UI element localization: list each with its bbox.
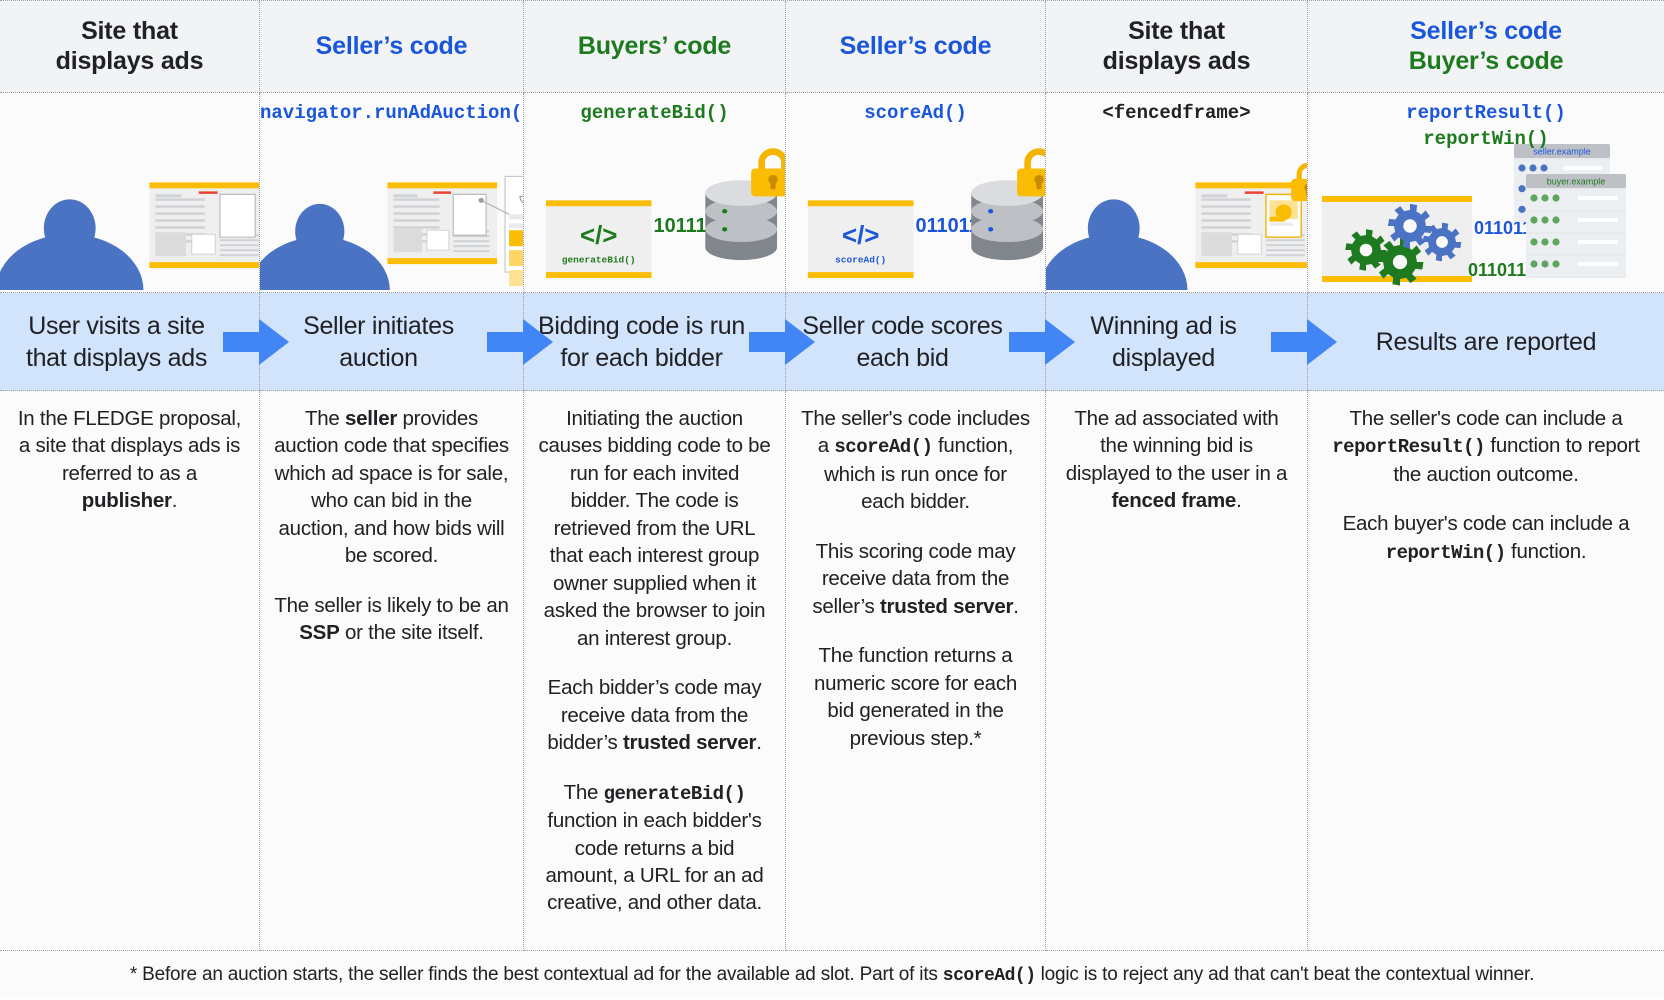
emphasis-term: trusted server: [623, 731, 756, 754]
svg-text:generateBid(): generateBid(): [562, 255, 636, 266]
description-paragraph: The generateBid() function in each bidde…: [538, 779, 771, 917]
scoread-laptop-database-lock-illustration: </>scoreAd()0110111: [786, 142, 1045, 292]
text-run: The seller is likely to be an: [274, 594, 508, 617]
column-header-4: Seller’s code: [786, 1, 1046, 93]
svg-text:</>: </>: [580, 222, 617, 250]
person-viewing-site-illustration: [0, 142, 259, 292]
description-paragraph: Initiating the auction causes bidding co…: [538, 405, 771, 652]
text-run: or the site itself.: [340, 621, 484, 644]
column-header-1: Site thatdisplays ads: [0, 1, 260, 93]
description-cell-3: Initiating the auction causes bidding co…: [524, 391, 786, 951]
column-header-line: Seller’s code: [1410, 17, 1562, 47]
api-label-line-1: scoreAd(): [786, 101, 1045, 127]
column-header-line: Seller’s code: [840, 32, 992, 62]
step-label: Seller initiates auction: [268, 310, 489, 374]
fledge-auction-flow-diagram: Site thatdisplays adsSeller’s codeBuyers…: [0, 0, 1664, 1000]
header-row: Site thatdisplays adsSeller’s codeBuyers…: [0, 0, 1664, 93]
description-paragraph: The seller is likely to be an SSP or the…: [274, 592, 509, 647]
description-paragraph: The seller's code can include a reportRe…: [1322, 405, 1650, 488]
text-run: The function returns a numeric score for…: [814, 644, 1017, 749]
column-header-line: displays ads: [1103, 47, 1251, 77]
inline-code: reportResult(): [1332, 436, 1485, 458]
flow-arrow-icon: [749, 319, 815, 365]
api-label: navigator.runAdAuction(): [260, 101, 523, 127]
text-run: Each buyer's code can include a: [1343, 512, 1630, 535]
text-run: * Before an auction starts, the seller f…: [130, 964, 943, 985]
emphasis-term: trusted server: [880, 595, 1013, 618]
column-header-6: Seller’s codeBuyer’s code: [1308, 1, 1664, 93]
api-label-line-1: generateBid(): [524, 101, 785, 127]
description-paragraph: In the FLEDGE proposal, a site that disp…: [14, 405, 245, 515]
inline-code: scoreAd(): [834, 436, 932, 458]
api-label: reportResult()reportWin(): [1308, 101, 1664, 152]
step-label: Bidding code is run for each bidder: [532, 310, 751, 374]
description-cell-4: The seller's code includes a scoreAd() f…: [786, 391, 1046, 951]
column-header-3: Buyers’ code: [524, 1, 786, 93]
footnote-text: * Before an auction starts, the seller f…: [130, 964, 1534, 986]
column-header-2: Seller’s code: [260, 1, 524, 93]
step-cell-5: Winning ad is displayed: [1046, 293, 1308, 391]
text-run: logic is to reject any ad that can't bea…: [1036, 964, 1535, 985]
text-run: The ad associated with the winning bid i…: [1066, 407, 1287, 485]
emphasis-term: seller: [345, 407, 397, 430]
column-header-line: Buyer’s code: [1409, 47, 1564, 77]
emphasis-term: SSP: [299, 621, 339, 644]
description-cell-5: The ad associated with the winning bid i…: [1046, 391, 1308, 951]
text-run: .: [1236, 489, 1241, 512]
flow-arrow-icon: [223, 319, 289, 365]
step-band-row: User visits a site that displays adsSell…: [0, 293, 1664, 391]
column-header-line: Buyers’ code: [578, 32, 731, 62]
description-cell-1: In the FLEDGE proposal, a site that disp…: [0, 391, 260, 951]
description-paragraph: The seller provides auction code that sp…: [274, 405, 509, 570]
step-label: Seller code scores each bid: [794, 310, 1011, 374]
flow-arrow-icon: [487, 319, 553, 365]
emphasis-term: publisher: [82, 489, 172, 512]
description-paragraph: Each bidder’s code may receive data from…: [538, 674, 771, 756]
step-cell-6: Results are reported: [1308, 293, 1664, 391]
inline-code: generateBid(): [604, 783, 746, 805]
step-cell-3: Bidding code is run for each bidder: [524, 293, 786, 391]
description-paragraph: This scoring code may receive data from …: [800, 538, 1031, 620]
text-run: The: [564, 781, 604, 804]
svg-text:buyer.example: buyer.example: [1547, 177, 1606, 187]
step-label: Results are reported: [1376, 326, 1597, 358]
api-label: <fencedframe>: [1046, 101, 1307, 127]
column-header-line: Seller’s code: [316, 32, 468, 62]
step-label: User visits a site that displays ads: [8, 310, 225, 374]
description-row: In the FLEDGE proposal, a site that disp…: [0, 391, 1664, 951]
step-label: Winning ad is displayed: [1054, 310, 1273, 374]
illustration-cell-6: reportResult()reportWin()011011101101111…: [1308, 93, 1664, 293]
person-viewing-fenced-frame-ad-illustration: [1046, 142, 1307, 292]
generatebid-laptop-database-lock-illustration: </>generateBid()1011110: [524, 142, 785, 292]
api-label: generateBid(): [524, 101, 785, 127]
column-header-line: Site that: [1128, 17, 1225, 47]
illustration-cell-2: navigator.runAdAuction(): [260, 93, 524, 293]
api-label: scoreAd(): [786, 101, 1045, 127]
api-label-line-1: navigator.runAdAuction(): [260, 101, 523, 127]
svg-text:scoreAd(): scoreAd(): [835, 255, 886, 266]
person-viewing-site-with-auction-panel-illustration: [260, 142, 523, 292]
api-label-line-2: reportWin(): [1308, 127, 1664, 153]
description-paragraph: The seller's code includes a scoreAd() f…: [800, 405, 1031, 516]
inline-code: reportWin(): [1386, 542, 1506, 564]
footnote: * Before an auction starts, the seller f…: [0, 951, 1664, 999]
illustration-cell-4: scoreAd()</>scoreAd()0110111: [786, 93, 1046, 293]
flow-arrow-icon: [1271, 319, 1337, 365]
text-run: function.: [1506, 540, 1587, 563]
text-run: Initiating the auction causes bidding co…: [539, 407, 771, 650]
text-run: .: [1013, 595, 1018, 618]
text-run: The: [305, 407, 345, 430]
column-header-line: Site that: [81, 17, 178, 47]
text-run: function in each bidder's code returns a…: [546, 809, 764, 914]
description-cell-2: The seller provides auction code that sp…: [260, 391, 524, 951]
description-paragraph: The ad associated with the winning bid i…: [1060, 405, 1293, 515]
text-run: The seller's code can include a: [1349, 407, 1622, 430]
step-cell-1: User visits a site that displays ads: [0, 293, 260, 391]
text-run: In the FLEDGE proposal, a site that disp…: [18, 407, 241, 485]
inline-code: scoreAd(): [943, 966, 1036, 986]
column-header-5: Site thatdisplays ads: [1046, 1, 1308, 93]
api-label-line-1: reportResult(): [1308, 101, 1664, 127]
text-run: provides auction code that specifies whi…: [274, 407, 509, 567]
illustration-cell-3: generateBid()</>generateBid()1011110: [524, 93, 786, 293]
illustration-cell-5: <fencedframe>: [1046, 93, 1308, 293]
description-cell-6: The seller's code can include a reportRe…: [1308, 391, 1664, 951]
emphasis-term: fenced frame: [1111, 489, 1236, 512]
flow-arrow-icon: [1009, 319, 1075, 365]
text-run: .: [756, 731, 761, 754]
illustration-cell-1: [0, 93, 260, 293]
step-cell-4: Seller code scores each bid: [786, 293, 1046, 391]
api-label-line-1: <fencedframe>: [1046, 101, 1307, 127]
description-paragraph: Each buyer's code can include a reportWi…: [1322, 510, 1650, 566]
step-cell-2: Seller initiates auction: [260, 293, 524, 391]
svg-text:</>: </>: [842, 222, 879, 250]
description-paragraph: The function returns a numeric score for…: [800, 642, 1031, 752]
text-run: .: [172, 489, 177, 512]
gears-laptop-servers-illustration: 011011101101111seller.examplebuyer.examp…: [1308, 142, 1664, 292]
illustration-row: navigator.runAdAuction()generateBid()</>…: [0, 93, 1664, 293]
column-header-line: displays ads: [56, 47, 204, 77]
